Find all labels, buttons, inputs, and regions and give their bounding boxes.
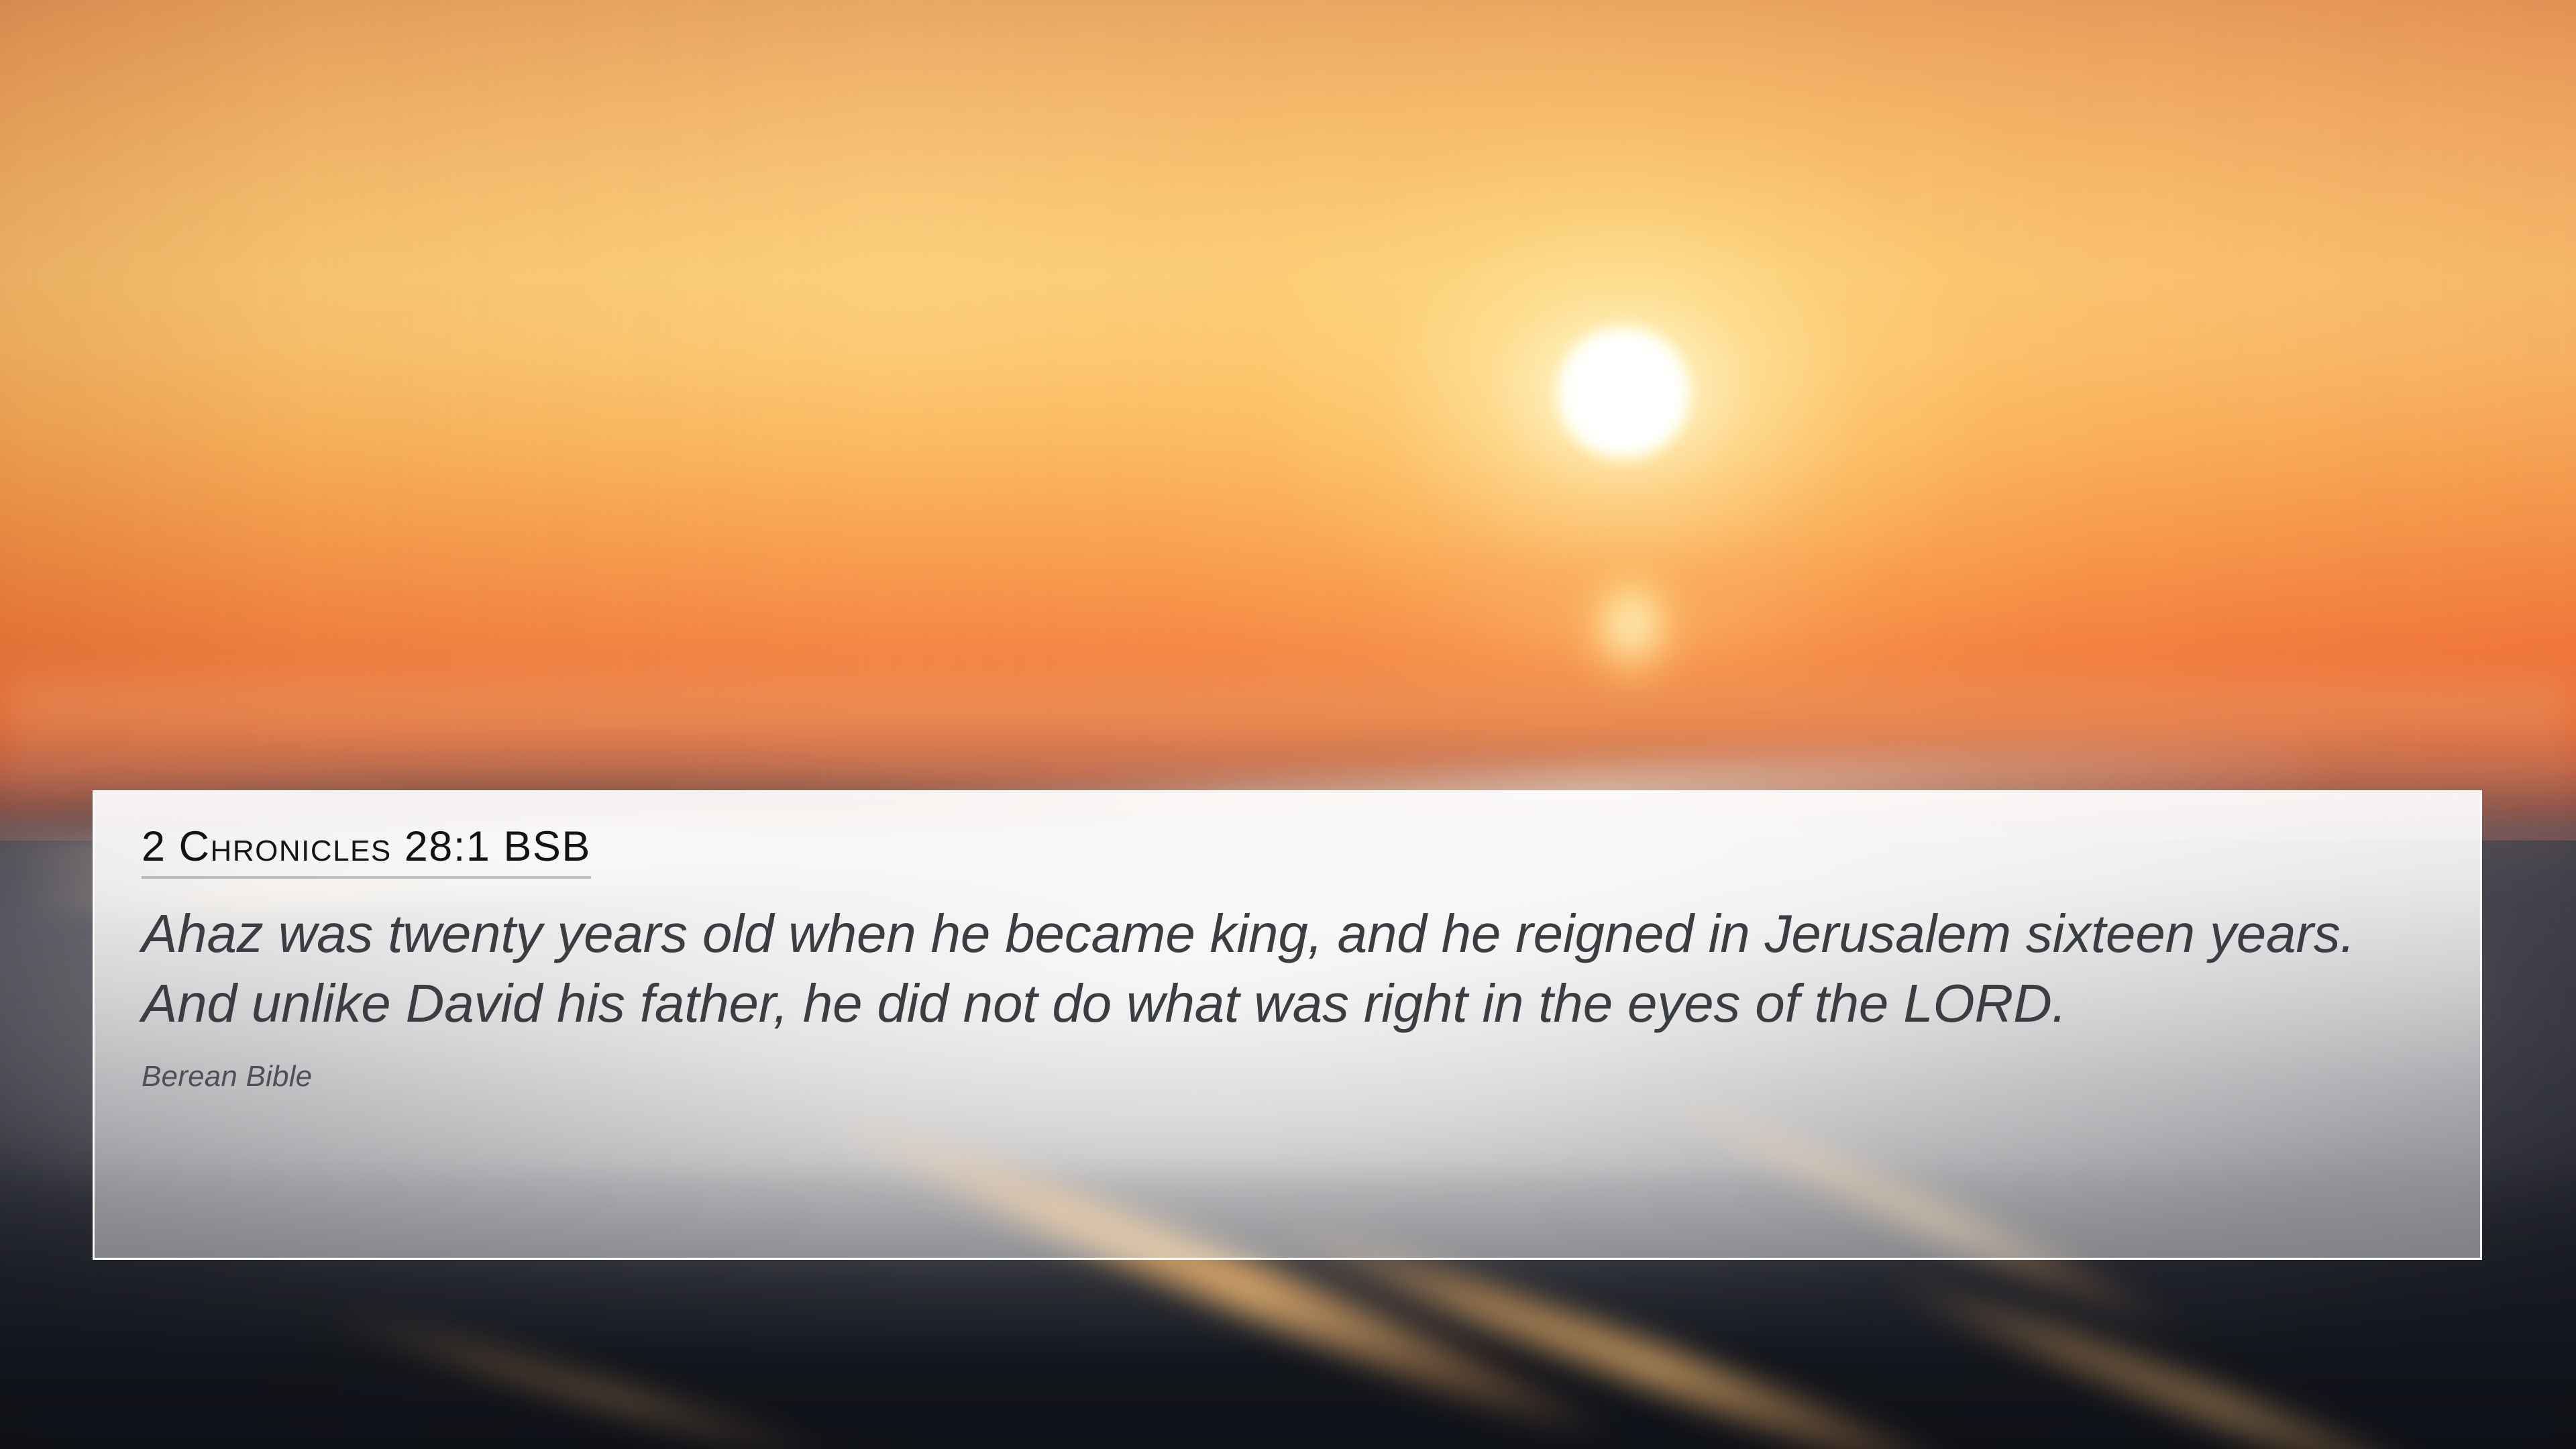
verse-attribution: Berean Bible	[142, 1060, 2433, 1093]
scripture-quote-card: 2 Chronicles 28:1 BSB Ahaz was twenty ye…	[93, 790, 2482, 1260]
verse-text: Ahaz was twenty years old when he became…	[142, 899, 2375, 1038]
sun-disc-icon	[1546, 316, 1701, 469]
verse-reference: 2 Chronicles 28:1 BSB	[142, 823, 591, 879]
verse-image-canvas: 2 Chronicles 28:1 BSB Ahaz was twenty ye…	[0, 0, 2576, 1449]
sun-reflection	[1571, 550, 1692, 698]
